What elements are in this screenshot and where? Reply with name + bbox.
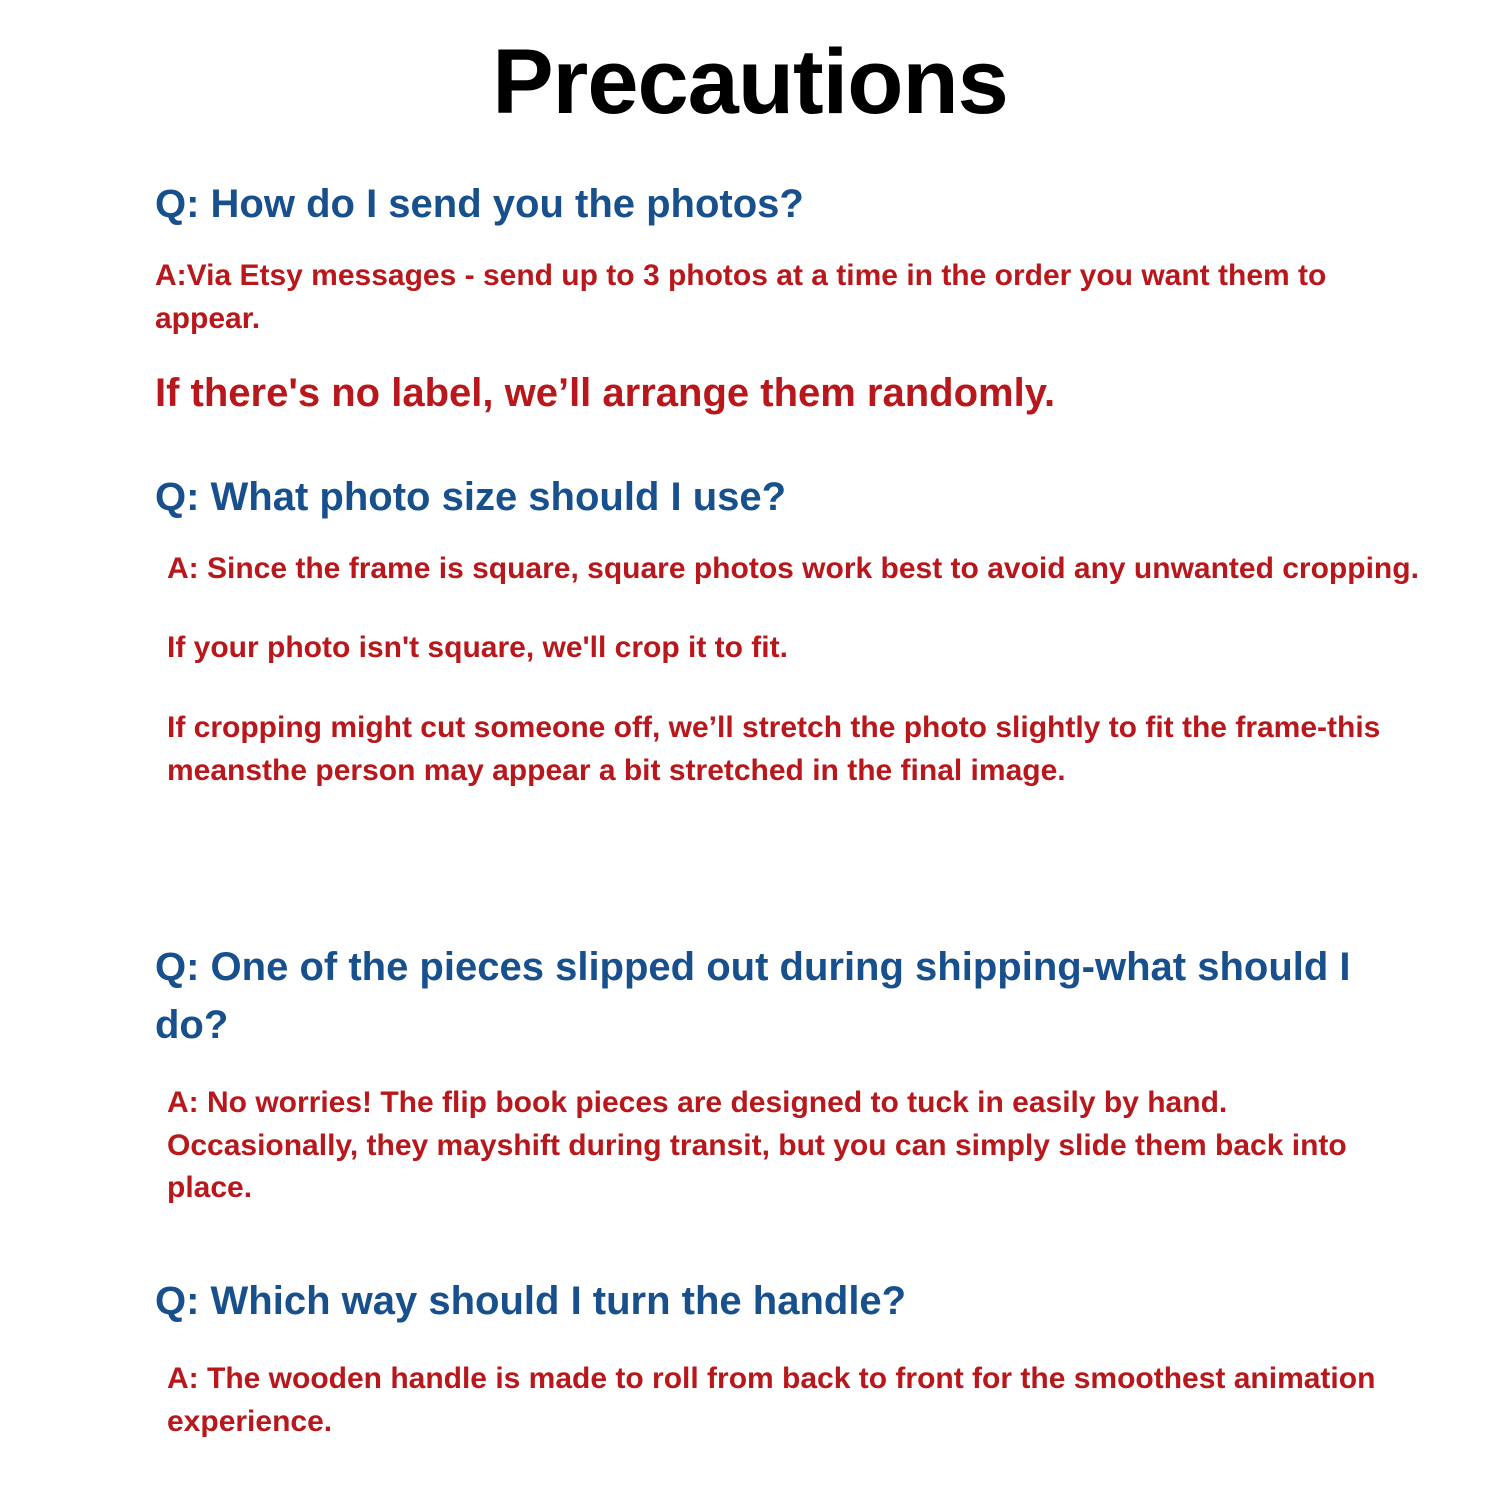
- faq-item-3: Q: One of the pieces slipped out during …: [155, 938, 1415, 1210]
- faq-answer-1: A:Via Etsy messages - send up to 3 photo…: [155, 255, 1405, 340]
- faq-item-4: Q: Which way should I turn the handle? A…: [155, 1272, 1405, 1443]
- faq-question-2: Q: What photo size should I use?: [155, 468, 1425, 526]
- precautions-document: Precautions Q: How do I send you the pho…: [0, 0, 1500, 1500]
- faq-question-3: Q: One of the pieces slipped out during …: [155, 938, 1415, 1054]
- faq-answer-2: A: Since the frame is square, square pho…: [155, 548, 1425, 591]
- faq-question-1: Q: How do I send you the photos?: [155, 175, 1405, 233]
- faq-note-1: If there's no label, we’ll arrange them …: [155, 366, 1405, 420]
- faq-answer-2-paragraph-2: If your photo isn't square, we'll crop i…: [155, 627, 1425, 670]
- faq-item-1: Q: How do I send you the photos? A:Via E…: [155, 175, 1405, 420]
- faq-answer-2-paragraph-3: If cropping might cut someone off, we’ll…: [155, 707, 1425, 792]
- faq-question-4: Q: Which way should I turn the handle?: [155, 1272, 1405, 1330]
- faq-answer-4: A: The wooden handle is made to roll fro…: [155, 1358, 1405, 1443]
- faq-answer-3: A: No worries! The flip book pieces are …: [155, 1082, 1415, 1210]
- faq-item-2: Q: What photo size should I use? A: Sinc…: [155, 468, 1425, 792]
- page-title: Precautions: [0, 34, 1500, 131]
